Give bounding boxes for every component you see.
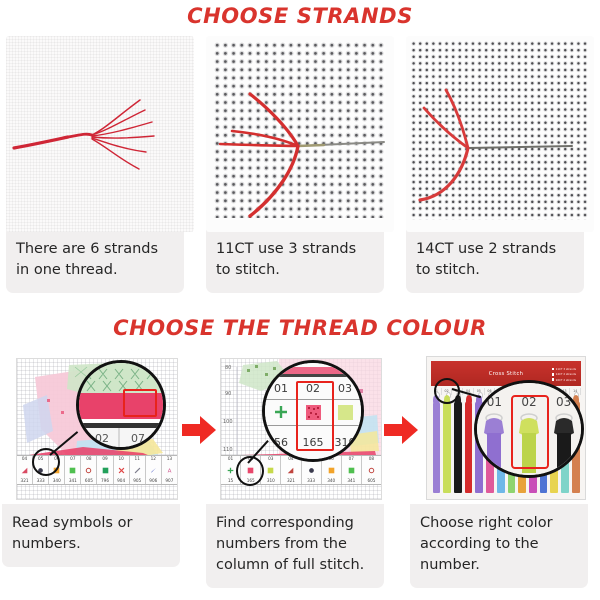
legend-cell: 08605 [362, 456, 381, 484]
magnifier-bubble: 01 02 03 [262, 360, 364, 462]
legend-symbol-circle-open [85, 461, 92, 479]
thread-hank [454, 401, 462, 493]
legend-symbol-square-green [69, 461, 76, 479]
legend-swatch [552, 378, 555, 381]
svg-text:02: 02 [95, 432, 109, 445]
legend-label: 14CT 2 strands [556, 372, 576, 376]
legend-label: 16CT 2 strands [556, 378, 576, 382]
legend-symbol-pen [150, 461, 157, 479]
section-title-choose-thread-colour: CHOOSE THE THREAD COLOUR [0, 316, 600, 340]
legend-code: 340 [53, 479, 61, 483]
thread-skein [442, 395, 453, 495]
legend-code: 56 [265, 425, 297, 459]
legend-cell: 07341 [65, 456, 81, 484]
caption-11ct: 11CT use 3 strands to stitch. [206, 230, 384, 293]
legend-code: 310 [267, 479, 275, 483]
photo-thread-organizer: Cross Stitch 11CT 3 strands 14CT 2 stran… [410, 352, 598, 504]
thread-hank [443, 401, 451, 493]
legend-cell: 04321 [17, 456, 33, 484]
legend-symbol-triangle [21, 461, 28, 479]
card-choose-color: Cross Stitch 11CT 3 strands 14CT 2 stran… [410, 352, 598, 588]
thread-hank [465, 401, 473, 493]
photo-pattern-chart-zoom: 8090 100110 0115021650331004321053330634… [206, 352, 394, 504]
legend-code: 904 [117, 479, 125, 483]
legend-symbol-circle-open [368, 461, 375, 479]
magnifier-source-circle [32, 448, 60, 476]
legend-cell: 13A907 [162, 456, 177, 484]
legend-code: 605 [85, 479, 93, 483]
legend-item: 11CT 3 strands [552, 367, 576, 371]
legend-code: 333 [37, 479, 45, 483]
thread-skein-purple [477, 413, 512, 475]
highlight-box [511, 395, 549, 469]
legend-symbol-circle-dark [308, 461, 315, 479]
right-arrow-icon [384, 415, 418, 445]
right-arrow-icon [182, 415, 216, 445]
legend-label: 11CT 3 strands [556, 367, 576, 371]
legend-item: 14CT 2 strands [552, 372, 576, 376]
photo-14ct [406, 36, 594, 232]
magnifier-source-circle [236, 456, 264, 486]
legend-cell: 11905 [130, 456, 146, 484]
legend-symbol-triangle [287, 461, 294, 479]
legend-code: 333 [307, 479, 315, 483]
needle-and-two-strands-illustration [406, 36, 594, 232]
svg-text:07: 07 [131, 432, 145, 445]
svg-text:110: 110 [223, 447, 233, 453]
legend-symbol-letter-a: A [166, 461, 173, 479]
caption-six-strands: There are 6 strands in one thread. [6, 230, 184, 293]
legend-code: 907 [165, 479, 173, 483]
card-legend: 11CT 3 strands 14CT 2 strands 16CT 2 str… [552, 367, 576, 382]
legend-swatch [552, 368, 555, 371]
svg-text:80: 80 [225, 365, 231, 371]
caption-14ct: 14CT use 2 strands to stitch. [406, 230, 584, 293]
instruction-infographic: CHOOSE STRANDS [0, 0, 600, 600]
magnifier-bubble: 01 02 03 [474, 380, 584, 478]
legend-cell: 08605 [81, 456, 97, 484]
legend-code: 341 [347, 479, 355, 483]
svg-text:100: 100 [223, 419, 233, 425]
magnified-stitch-band [265, 367, 361, 374]
legend-code: 605 [367, 479, 375, 483]
legend-code: 906 [149, 479, 157, 483]
legend-cell: 03310 [261, 456, 281, 484]
card-title: Cross Stitch [489, 371, 523, 377]
legend-symbol-slash [134, 461, 141, 479]
caption-find-numbers: Find corresponding numbers from the colu… [206, 504, 384, 588]
card-six-strands: There are 6 strands in one thread. [6, 36, 194, 293]
legend-code: 340 [327, 479, 335, 483]
legend-cell: 09796 [97, 456, 113, 484]
thread-skein [452, 395, 463, 495]
magnifier-source-circle [434, 378, 460, 404]
legend-code: 15 [228, 479, 233, 483]
legend-symbol-green-cross [227, 461, 234, 479]
colour-card-row: 0432105333063400734108605097961090411905… [0, 352, 600, 588]
legend-cell: 07341 [342, 456, 362, 484]
thread-skein [463, 395, 474, 495]
legend-swatch [552, 373, 555, 376]
legend-symbol-square-green [348, 461, 355, 479]
legend-symbol-cross-x [118, 461, 125, 479]
card-find-numbers: 8090 100110 0115021650331004321053330634… [206, 352, 394, 588]
svg-text:90: 90 [225, 391, 231, 397]
legend-item: 16CT 2 strands [552, 378, 576, 382]
strands-card-row: There are 6 strands in one thread. 11CT … [0, 36, 600, 293]
card-read-symbols: 0432105333063400734108605097961090411905… [2, 352, 190, 588]
legend-code: 341 [69, 479, 77, 483]
legend-code: 905 [133, 479, 141, 483]
legend-column-header: 01 [265, 377, 297, 399]
photo-11ct [206, 36, 394, 232]
thread-number-label: 01 [477, 383, 512, 413]
red-thread-six-strands-illustration [6, 36, 194, 232]
photo-pattern-chart: 0432105333063400734108605097961090411905… [2, 352, 190, 504]
legend-symbol-green-cross [265, 399, 297, 425]
svg-text:A: A [167, 469, 171, 474]
legend-code: 796 [101, 479, 109, 483]
legend-cell: 04321 [281, 456, 301, 484]
caption-read-symbols: Read symbols or numbers. [2, 504, 180, 567]
thread-skein [431, 395, 442, 495]
legend-code: 321 [287, 479, 295, 483]
thread-skein-black [546, 413, 581, 475]
section-title-choose-strands: CHOOSE STRANDS [0, 4, 600, 28]
highlight-box [123, 389, 157, 417]
legend-symbol-square-dkgreen [102, 461, 109, 479]
legend-symbol-square-orange [328, 461, 335, 479]
magnifier-bubble: 02 07 [76, 360, 166, 450]
caption-choose-color: Choose right color according to the numb… [410, 504, 588, 588]
card-14ct: 14CT use 2 strands to stitch. [406, 36, 594, 293]
thread-number-label: 03 [546, 383, 581, 413]
photo-six-strands [6, 36, 194, 232]
card-11ct: 11CT use 3 strands to stitch. [206, 36, 394, 293]
legend-cell: 10904 [114, 456, 130, 484]
legend-cell: 12906 [146, 456, 162, 484]
thread-hank [433, 401, 441, 493]
legend-symbol-lime-square [267, 461, 274, 479]
highlight-box [296, 381, 334, 451]
legend-code: 321 [21, 479, 29, 483]
needle-and-three-strands-illustration [206, 36, 394, 232]
